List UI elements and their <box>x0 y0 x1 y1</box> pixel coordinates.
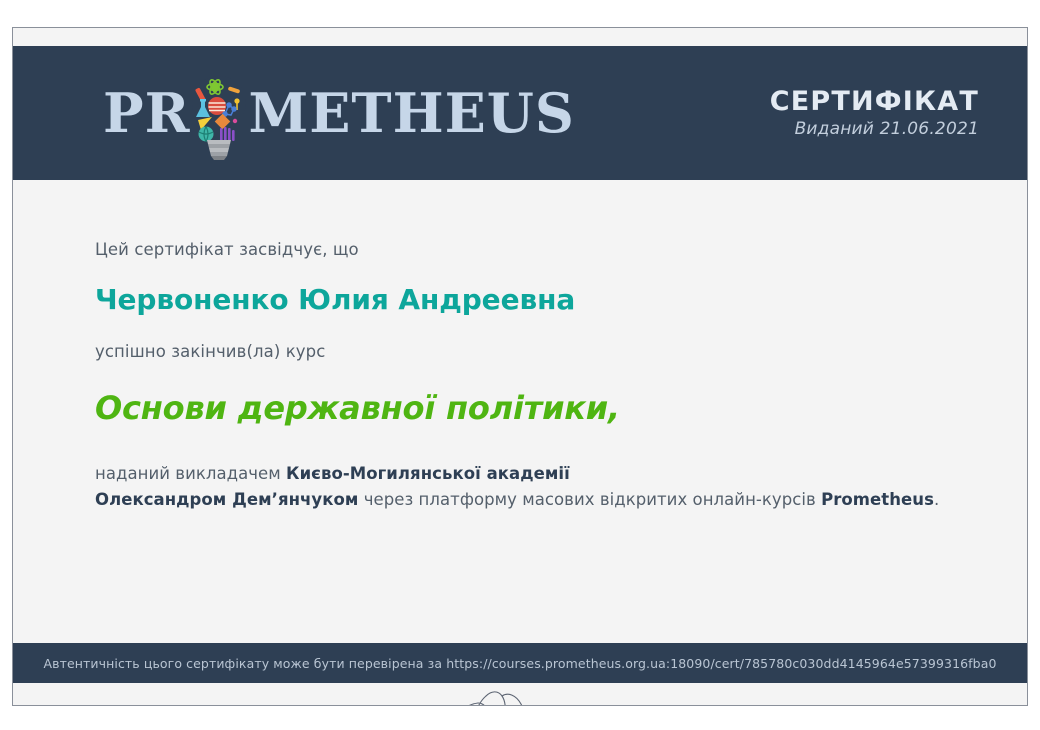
lightbulb-icon <box>188 74 250 162</box>
certificate-issued-date: Виданий 21.06.2021 <box>770 119 979 139</box>
completion-text: успішно закінчив(ла) курс <box>95 342 945 361</box>
logo-text-pr: PR <box>103 86 190 140</box>
logo-text-metheus: METHEUS <box>248 86 574 140</box>
certificate-header-right: СЕРТИФІКАТ Виданий 21.06.2021 <box>770 87 979 140</box>
granted-academy: Києво-Могилянської академії <box>286 464 570 483</box>
granted-prefix: наданий викладачем <box>95 464 286 483</box>
certificate-title: СЕРТИФІКАТ <box>770 87 979 117</box>
course-title: Основи державної політики, <box>95 389 945 427</box>
certificate-card: PR <box>12 27 1028 706</box>
granted-middle: через платформу масових відкритих онлайн… <box>358 490 821 509</box>
certificate-page: PR <box>0 0 1040 730</box>
certificate-header: PR <box>13 46 1027 180</box>
logo-wordmark: PR <box>103 69 575 157</box>
recipient-name: Червоненко Юлия Андреевна <box>95 283 945 316</box>
prometheus-logo: PR <box>103 46 575 180</box>
granted-platform: Prometheus <box>821 490 934 509</box>
verification-text: Автентичність цього сертифікату може бут… <box>43 656 996 671</box>
certificate-footer: Автентичність цього сертифікату може бут… <box>13 643 1027 683</box>
lead-text: Цей сертифікат засвідчує, що <box>95 240 945 259</box>
certificate-body: Цей сертифікат засвідчує, що Червоненко … <box>13 180 1027 650</box>
granted-by-paragraph: наданий викладачем Києво-Могилянської ак… <box>95 461 945 512</box>
granted-suffix: . <box>934 490 939 509</box>
granted-instructor: Олександром Дем’янчуком <box>95 490 358 509</box>
